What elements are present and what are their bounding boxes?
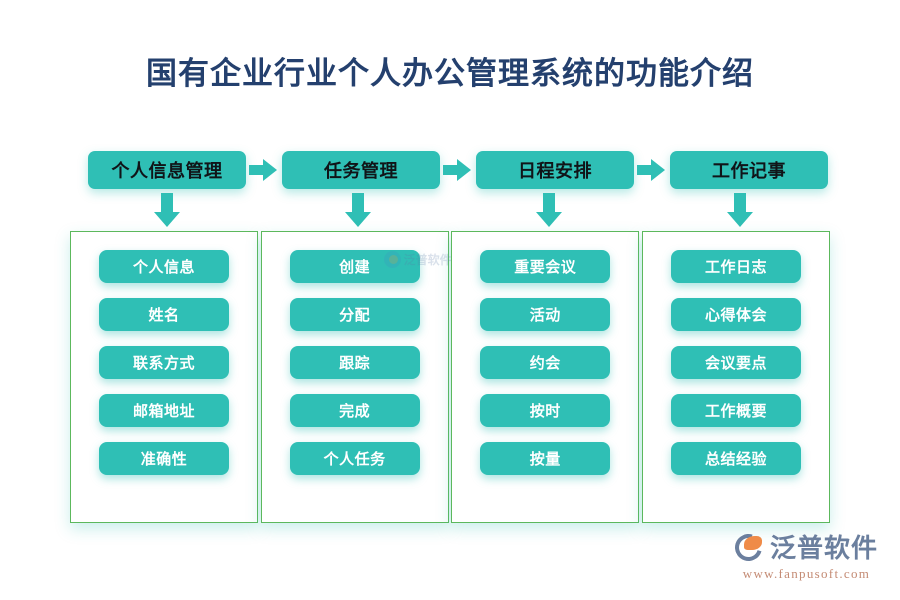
flow-header-row: 个人信息管理 任务管理 日程安排 工作记事 — [88, 150, 828, 190]
arrow-down-icon — [536, 193, 562, 227]
list-item[interactable]: 会议要点 — [671, 346, 801, 379]
page-title: 国有企业行业个人办公管理系统的功能介绍 — [0, 48, 900, 93]
flow-header-work-notes[interactable]: 工作记事 — [670, 151, 828, 189]
flow-header-label: 任务管理 — [324, 157, 398, 183]
list-item-label: 个人任务 — [324, 448, 386, 469]
panel-schedule: 重要会议 活动 约会 按时 按量 — [451, 231, 639, 523]
logo-name: 泛普软件 — [770, 528, 878, 565]
list-item[interactable]: 活动 — [480, 298, 610, 331]
list-item-label: 完成 — [339, 400, 370, 421]
list-item-label: 活动 — [530, 304, 561, 325]
list-item-label: 邮箱地址 — [133, 400, 195, 421]
flow-header-label: 个人信息管理 — [112, 157, 223, 183]
list-item-label: 会议要点 — [705, 352, 767, 373]
flow-header-schedule[interactable]: 日程安排 — [476, 151, 634, 189]
list-item-label: 创建 — [339, 256, 370, 277]
list-item-label: 心得体会 — [705, 304, 767, 325]
arrow-right-icon — [249, 159, 279, 181]
list-item[interactable]: 心得体会 — [671, 298, 801, 331]
list-item[interactable]: 创建 — [290, 250, 420, 283]
connector-arrow-group — [88, 193, 828, 229]
list-item-label: 分配 — [339, 304, 370, 325]
list-item[interactable]: 邮箱地址 — [99, 394, 229, 427]
list-item[interactable]: 约会 — [480, 346, 610, 379]
list-item-label: 联系方式 — [133, 352, 195, 373]
flow-header-label: 日程安排 — [518, 157, 592, 183]
arrow-down-icon — [345, 193, 371, 227]
flow-header-label: 工作记事 — [712, 157, 786, 183]
logo-url: www.fanpusoft.com — [743, 566, 870, 582]
arrow-right-icon — [443, 159, 473, 181]
list-item-label: 总结经验 — [705, 448, 767, 469]
list-item[interactable]: 准确性 — [99, 442, 229, 475]
panel-personal-info: 个人信息 姓名 联系方式 邮箱地址 准确性 — [70, 231, 258, 523]
list-item-label: 按时 — [530, 400, 561, 421]
list-item[interactable]: 总结经验 — [671, 442, 801, 475]
logo-row: 泛普软件 — [735, 528, 878, 565]
list-item-label: 按量 — [530, 448, 561, 469]
panel-work-notes: 工作日志 心得体会 会议要点 工作概要 总结经验 — [642, 231, 830, 523]
list-item[interactable]: 重要会议 — [480, 250, 610, 283]
list-item[interactable]: 工作日志 — [671, 250, 801, 283]
arrow-right-icon — [637, 159, 667, 181]
list-item[interactable]: 按量 — [480, 442, 610, 475]
flow-panel-row: 个人信息 姓名 联系方式 邮箱地址 准确性 泛普软件 创建 分配 跟踪 完成 个… — [70, 231, 830, 523]
fanpu-logo-icon — [735, 532, 765, 562]
list-item[interactable]: 个人信息 — [99, 250, 229, 283]
list-item-label: 工作日志 — [705, 256, 767, 277]
list-item-label: 姓名 — [148, 304, 179, 325]
panel-task-management: 泛普软件 创建 分配 跟踪 完成 个人任务 — [261, 231, 449, 523]
list-item[interactable]: 按时 — [480, 394, 610, 427]
arrow-down-icon — [727, 193, 753, 227]
list-item[interactable]: 联系方式 — [99, 346, 229, 379]
list-item-label: 跟踪 — [339, 352, 370, 373]
list-item-label: 约会 — [530, 352, 561, 373]
infographic-page: 国有企业行业个人办公管理系统的功能介绍 个人信息管理 任务管理 日程安排 工作记… — [0, 0, 900, 600]
list-item-label: 准确性 — [141, 448, 188, 469]
list-item[interactable]: 跟踪 — [290, 346, 420, 379]
list-item[interactable]: 分配 — [290, 298, 420, 331]
flow-header-personal-info[interactable]: 个人信息管理 — [88, 151, 246, 189]
brand-logo: 泛普软件 www.fanpusoft.com — [735, 528, 878, 582]
flow-header-task-management[interactable]: 任务管理 — [282, 151, 440, 189]
list-item-label: 工作概要 — [705, 400, 767, 421]
list-item-label: 个人信息 — [133, 256, 195, 277]
list-item-label: 重要会议 — [514, 256, 576, 277]
arrow-down-icon — [154, 193, 180, 227]
list-item[interactable]: 工作概要 — [671, 394, 801, 427]
list-item[interactable]: 个人任务 — [290, 442, 420, 475]
list-item[interactable]: 姓名 — [99, 298, 229, 331]
list-item[interactable]: 完成 — [290, 394, 420, 427]
